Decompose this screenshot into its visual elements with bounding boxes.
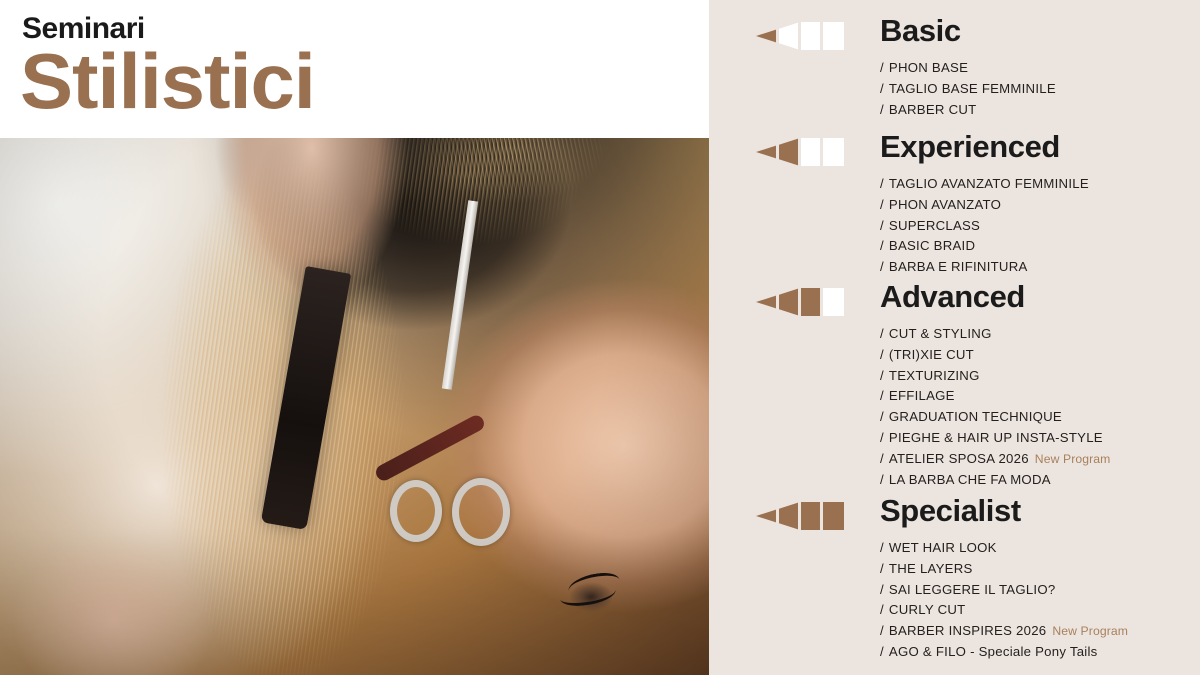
- level-arrow-icon: [756, 502, 844, 530]
- page-title: Stilistici: [20, 42, 315, 120]
- item-label: CUT & STYLING: [889, 326, 992, 341]
- item-label: BARBA E RIFINITURA: [889, 259, 1028, 274]
- level-arrow-icon: [756, 288, 844, 316]
- new-program-badge: New Program: [1052, 624, 1128, 638]
- item-label: BARBER CUT: [889, 102, 977, 117]
- bullet-slash: /: [880, 197, 884, 212]
- list-item[interactable]: /BARBER INSPIRES 2026New Program: [880, 621, 1128, 642]
- section-item-list: /PHON BASE /TAGLIO BASE FEMMINILE /BARBE…: [880, 58, 1056, 120]
- list-item[interactable]: /PHON BASE: [880, 58, 1056, 79]
- bullet-slash: /: [880, 60, 884, 75]
- list-item[interactable]: /TAGLIO AVANZATO FEMMINILE: [880, 174, 1089, 195]
- bullet-slash: /: [880, 326, 884, 341]
- item-label: BASIC BRAID: [889, 238, 975, 253]
- bullet-slash: /: [880, 259, 884, 274]
- bullet-slash: /: [880, 644, 884, 659]
- bullet-slash: /: [880, 388, 884, 403]
- bullet-slash: /: [880, 347, 884, 362]
- level-arrow-icon: [756, 22, 844, 50]
- list-item[interactable]: /CUT & STYLING: [880, 324, 1110, 345]
- bullet-slash: /: [880, 176, 884, 191]
- list-item[interactable]: /WET HAIR LOOK: [880, 538, 1128, 559]
- bullet-slash: /: [880, 472, 884, 487]
- section-heading: Experienced: [880, 129, 1060, 165]
- list-item[interactable]: /TEXTURIZING: [880, 366, 1110, 387]
- bullet-slash: /: [880, 602, 884, 617]
- item-label: GRADUATION TECHNIQUE: [889, 409, 1062, 424]
- item-label: THE LAYERS: [889, 561, 973, 576]
- list-item[interactable]: /(TRI)XIE CUT: [880, 345, 1110, 366]
- left-column: Seminari Stilistici: [0, 0, 709, 675]
- bullet-slash: /: [880, 582, 884, 597]
- bullet-slash: /: [880, 623, 884, 638]
- list-item[interactable]: /BARBER CUT: [880, 100, 1056, 121]
- section-item-list: /WET HAIR LOOK /THE LAYERS /SAI LEGGERE …: [880, 538, 1128, 663]
- section-item-list: /CUT & STYLING /(TRI)XIE CUT /TEXTURIZIN…: [880, 324, 1110, 490]
- list-item[interactable]: /PHON AVANZATO: [880, 195, 1089, 216]
- list-item[interactable]: /BASIC BRAID: [880, 236, 1089, 257]
- bullet-slash: /: [880, 430, 884, 445]
- item-label: AGO & FILO - Speciale Pony Tails: [889, 644, 1098, 659]
- list-item[interactable]: /SUPERCLASS: [880, 216, 1089, 237]
- bullet-slash: /: [880, 451, 884, 466]
- item-label: PIEGHE & HAIR UP INSTA-STYLE: [889, 430, 1103, 445]
- item-label: (TRI)XIE CUT: [889, 347, 974, 362]
- title-band: Seminari Stilistici: [0, 0, 709, 138]
- new-program-badge: New Program: [1035, 452, 1111, 466]
- list-item[interactable]: /LA BARBA CHE FA MODA: [880, 470, 1110, 491]
- section-heading: Advanced: [880, 279, 1025, 315]
- item-label: BARBER INSPIRES 2026: [889, 623, 1046, 638]
- bullet-slash: /: [880, 368, 884, 383]
- item-label: TAGLIO BASE FEMMINILE: [889, 81, 1056, 96]
- list-item[interactable]: /PIEGHE & HAIR UP INSTA-STYLE: [880, 428, 1110, 449]
- list-item[interactable]: /SAI LEGGERE IL TAGLIO?: [880, 580, 1128, 601]
- item-label: PHON BASE: [889, 60, 968, 75]
- item-label: LA BARBA CHE FA MODA: [889, 472, 1051, 487]
- item-label: EFFILAGE: [889, 388, 955, 403]
- bullet-slash: /: [880, 561, 884, 576]
- item-label: SAI LEGGERE IL TAGLIO?: [889, 582, 1056, 597]
- section-heading: Basic: [880, 13, 961, 49]
- item-label: CURLY CUT: [889, 602, 966, 617]
- bullet-slash: /: [880, 81, 884, 96]
- item-label: SUPERCLASS: [889, 218, 980, 233]
- section-item-list: /TAGLIO AVANZATO FEMMINILE /PHON AVANZAT…: [880, 174, 1089, 278]
- course-levels-panel: Basic /PHON BASE /TAGLIO BASE FEMMINILE …: [709, 0, 1200, 675]
- item-label: ATELIER SPOSA 2026: [889, 451, 1029, 466]
- list-item[interactable]: /CURLY CUT: [880, 600, 1128, 621]
- item-label: PHON AVANZATO: [889, 197, 1001, 212]
- list-item[interactable]: /GRADUATION TECHNIQUE: [880, 407, 1110, 428]
- list-item[interactable]: /AGO & FILO - Speciale Pony Tails: [880, 642, 1128, 663]
- list-item[interactable]: /BARBA E RIFINITURA: [880, 257, 1089, 278]
- bullet-slash: /: [880, 218, 884, 233]
- bullet-slash: /: [880, 238, 884, 253]
- bullet-slash: /: [880, 540, 884, 555]
- bullet-slash: /: [880, 409, 884, 424]
- item-label: WET HAIR LOOK: [889, 540, 997, 555]
- bullet-slash: /: [880, 102, 884, 117]
- level-arrow-icon: [756, 138, 844, 166]
- list-item[interactable]: /TAGLIO BASE FEMMINILE: [880, 79, 1056, 100]
- seminars-slide: Seminari Stilistici Basic /PHON BASE /TA…: [0, 0, 1200, 675]
- item-label: TAGLIO AVANZATO FEMMINILE: [889, 176, 1089, 191]
- section-heading: Specialist: [880, 493, 1021, 529]
- list-item[interactable]: /THE LAYERS: [880, 559, 1128, 580]
- list-item[interactable]: /ATELIER SPOSA 2026New Program: [880, 449, 1110, 470]
- item-label: TEXTURIZING: [889, 368, 980, 383]
- list-item[interactable]: /EFFILAGE: [880, 386, 1110, 407]
